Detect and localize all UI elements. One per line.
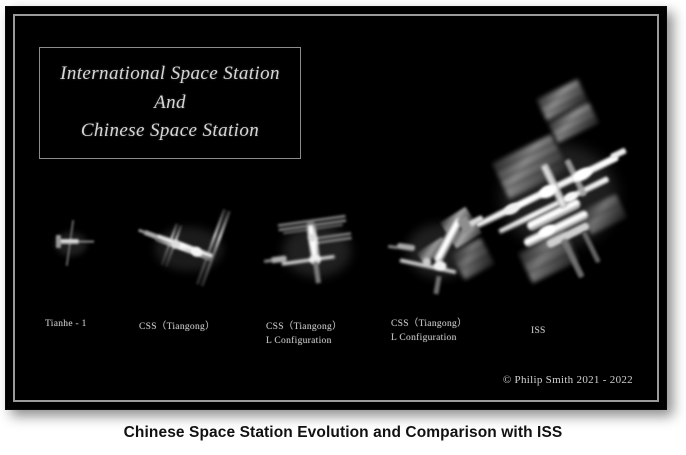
- css-tiangong-l-1-image: [260, 201, 375, 301]
- title-line-2: And: [154, 90, 186, 117]
- astrophoto-panel: International Space Station And Chinese …: [5, 6, 667, 410]
- caption-css-tiangong-l-2: CSS（Tiangong） L Configuration: [391, 318, 467, 346]
- title-line-1: International Space Station: [60, 61, 280, 88]
- caption-css-tiangong: CSS（Tiangong）: [139, 321, 215, 335]
- css-tiangong-image: [127, 201, 247, 301]
- station-iss: ISS: [463, 101, 653, 301]
- caption-line-1: Tianhe - 1: [45, 318, 87, 332]
- iss-image: [463, 101, 653, 301]
- title-plaque: International Space Station And Chinese …: [39, 47, 301, 159]
- caption-line-2: L Configuration: [266, 335, 342, 349]
- caption-css-tiangong-l-1: CSS（Tiangong） L Configuration: [266, 321, 342, 349]
- copyright-notice: © Philip Smith 2021 - 2022: [503, 374, 633, 386]
- caption-tianhe-1: Tianhe - 1: [45, 318, 87, 332]
- caption-iss: ISS: [531, 325, 546, 339]
- figure-caption: Chinese Space Station Evolution and Comp…: [0, 424, 686, 442]
- station-css-tiangong-l-1: CSS（Tiangong） L Configuration: [260, 201, 375, 301]
- caption-line-1: CSS（Tiangong）: [139, 321, 215, 335]
- station-tianhe-1: Tianhe - 1: [43, 208, 133, 288]
- tianhe-1-image: [43, 208, 133, 288]
- station-css-tiangong: CSS（Tiangong）: [127, 201, 247, 301]
- photo-canvas: International Space Station And Chinese …: [15, 16, 657, 400]
- caption-line-1: ISS: [531, 325, 546, 339]
- caption-line-1: CSS（Tiangong）: [391, 318, 467, 332]
- title-line-3: Chinese Space Station: [81, 118, 259, 145]
- caption-line-2: L Configuration: [391, 332, 467, 346]
- caption-line-1: CSS（Tiangong）: [266, 321, 342, 335]
